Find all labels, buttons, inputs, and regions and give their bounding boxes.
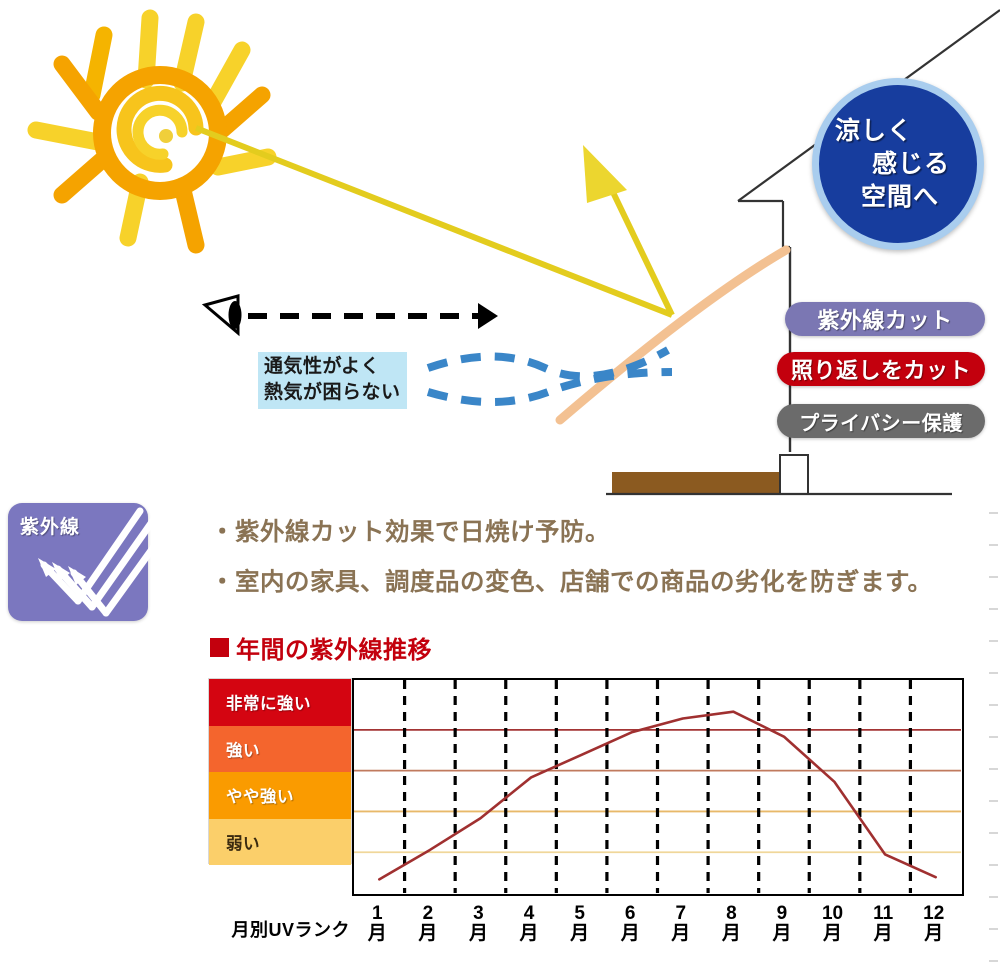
reflected-sun-ray-icon <box>196 128 672 315</box>
airflow-caption-line-1: 通気性がよく <box>264 354 401 380</box>
airflow-caption: 通気性がよく 熱気が困らない <box>258 352 407 409</box>
circle-line-3: 空間へ <box>829 181 967 214</box>
chart-xtick-2: 2月 <box>403 904 453 944</box>
uv-level-legend-column: 非常に強い 強い やや強い 弱い <box>208 678 352 864</box>
eye-view-icon <box>205 296 498 333</box>
benefit-bullet-1: ・紫外線カット効果で日焼け予防。 <box>210 513 610 548</box>
chart-xaxis: 1月2月3月4月5月6月7月8月9月10月11月12月 <box>352 900 964 956</box>
chart-xtick-7: 7月 <box>656 904 706 944</box>
circle-line-1: 涼しく <box>829 115 967 148</box>
benefit-bullet-2: ・室内の家具、調度品の変色、店舗での商品の劣化を防ぎます。 <box>210 563 933 598</box>
chart-plot-area <box>352 678 964 896</box>
feature-badge-heat-reflection-cut: 照り返しをカット <box>777 352 985 386</box>
uv-band-label: やや強い <box>209 783 294 807</box>
wooden-deck-icon <box>606 455 952 494</box>
awning-curve-icon <box>560 250 786 420</box>
uv-band-weak: 弱い <box>209 819 351 866</box>
uv-band-label: 弱い <box>209 830 260 854</box>
uv-trend-chart: 非常に強い 強い やや強い 弱い 月別UVランク 1月2月3月4月5月6月7月8… <box>208 678 964 896</box>
uv-band-label: 強い <box>209 737 260 761</box>
feature-badge-privacy-protection: プライバシー保護 <box>777 404 985 438</box>
airflow-caption-line-2: 熱気が困らない <box>264 380 401 406</box>
chart-xtick-5: 5月 <box>555 904 605 944</box>
uv-band-moderately-strong: やや強い <box>209 772 351 819</box>
chart-xaxis-title: 月別UVランク <box>220 916 350 942</box>
chart-xtick-10: 10月 <box>808 904 858 944</box>
uv-band-very-strong: 非常に強い <box>209 679 351 726</box>
chart-xtick-1: 1月 <box>352 904 402 944</box>
uv-band-strong: 強い <box>209 726 351 773</box>
chart-xtick-9: 9月 <box>757 904 807 944</box>
illustration-page: 涼しく 感じる 空間へ 紫外線カット 照り返しをカット プライバシー保護 通気性… <box>0 0 1000 970</box>
chart-title: 年間の紫外線推移 <box>210 630 432 665</box>
chart-xtick-12: 12月 <box>909 904 959 944</box>
chart-title-marker-icon <box>210 638 229 657</box>
chart-xtick-6: 6月 <box>605 904 655 944</box>
sun-icon <box>36 18 268 245</box>
chart-xtick-4: 4月 <box>504 904 554 944</box>
chart-xtick-8: 8月 <box>706 904 756 944</box>
uv-shield-icon: 紫外線 <box>8 503 148 621</box>
circle-line-2: 感じる <box>829 148 967 181</box>
chart-xtick-11: 11月 <box>858 904 908 944</box>
uv-band-label: 非常に強い <box>209 690 311 714</box>
uv-reflect-arrows-icon <box>8 503 148 621</box>
feature-badge-uv-cut: 紫外線カット <box>785 302 985 336</box>
chart-title-text: 年間の紫外線推移 <box>236 630 432 665</box>
chart-plot-svg <box>354 680 961 893</box>
cool-feeling-circle: 涼しく 感じる 空間へ <box>812 78 984 250</box>
chart-xtick-3: 3月 <box>453 904 503 944</box>
